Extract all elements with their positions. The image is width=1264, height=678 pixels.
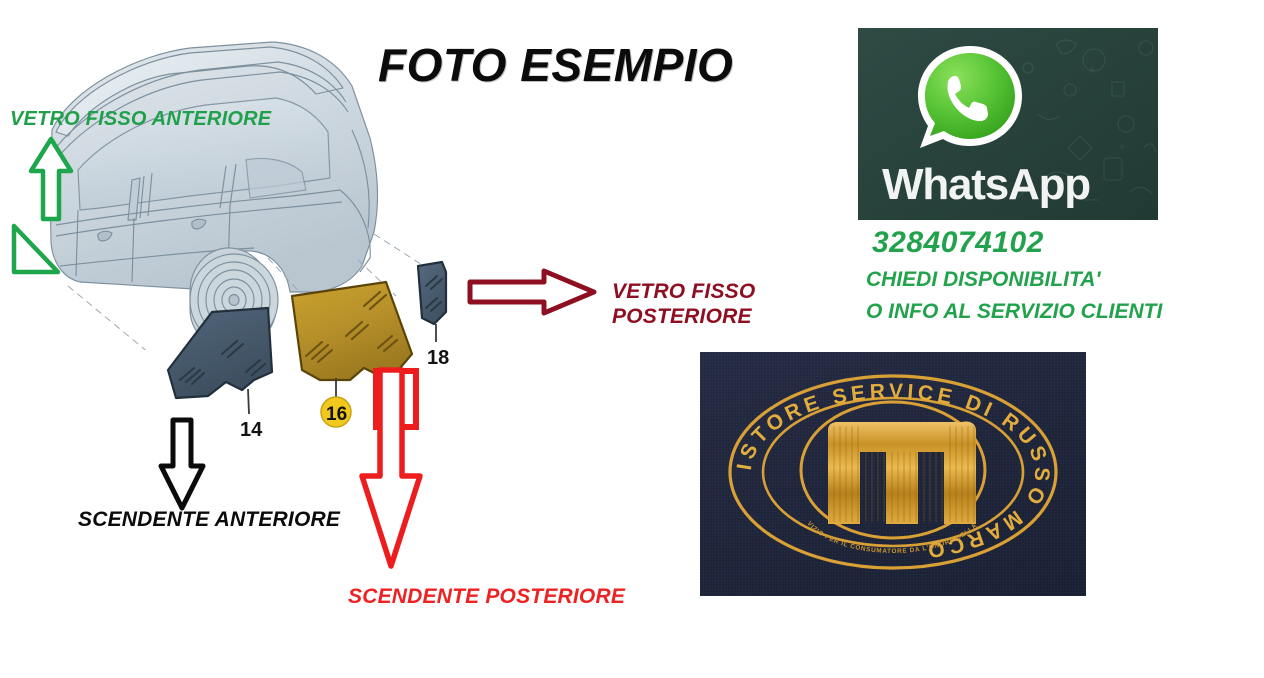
part-14-shape xyxy=(168,308,272,398)
part-18-shape xyxy=(418,262,446,324)
logo-ring-text: MRICAMBISTORE SERVICE DI RUSSO MARCO xyxy=(700,352,1054,562)
contact-line-2: O INFO AL SERVIZIO CLIENTI xyxy=(866,300,1162,324)
arrow-right-darkred-icon xyxy=(466,268,598,321)
company-logo-plate: MRICAMBISTORE SERVICE DI RUSSO MARCO xyxy=(700,352,1086,596)
phone-number[interactable]: 3284074102 xyxy=(872,226,1044,260)
company-logo: MRICAMBISTORE SERVICE DI RUSSO MARCO xyxy=(700,352,1086,596)
part-number-16: 16 xyxy=(326,404,347,425)
whatsapp-wordmark: WhatsApp xyxy=(882,160,1090,210)
label-vetro-fisso-anteriore: VETRO FISSO ANTERIORE xyxy=(10,108,271,132)
label-vfp-line2: POSTERIORE xyxy=(612,305,755,330)
arrow-down-black-icon xyxy=(155,416,209,517)
label-scendente-posteriore: SCENDENTE POSTERIORE xyxy=(348,585,625,610)
whatsapp-banner: WhatsApp xyxy=(858,28,1158,220)
contact-line-1: CHIEDI DISPONIBILITA' xyxy=(866,268,1100,292)
arrow-up-green-icon xyxy=(28,135,74,228)
part-number-18: 18 xyxy=(427,347,449,369)
arrow-down-red-icon xyxy=(356,366,426,577)
whatsapp-icon xyxy=(910,40,1030,160)
triangle-green-icon xyxy=(8,222,64,283)
label-scendente-anteriore: SCENDENTE ANTERIORE xyxy=(78,508,340,533)
logo-monogram xyxy=(828,421,976,524)
page-title: FOTO ESEMPIO xyxy=(378,38,733,92)
product-listing-image: 14 16 17 xyxy=(0,0,1264,678)
label-vfp-line1: VETRO FISSO xyxy=(612,280,755,305)
label-vetro-fisso-posteriore: VETRO FISSO POSTERIORE xyxy=(612,280,755,330)
part-number-14: 14 xyxy=(240,419,263,441)
